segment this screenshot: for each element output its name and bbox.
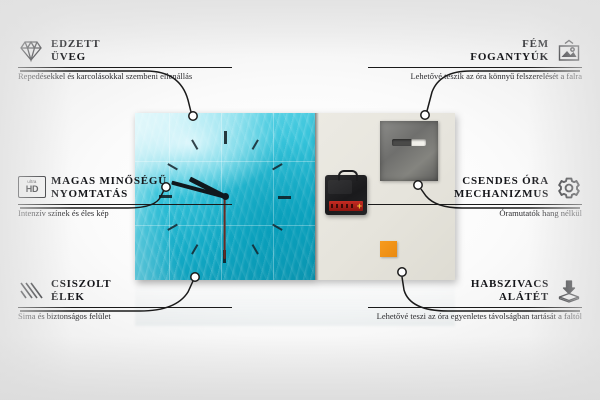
diamond-icon — [18, 39, 44, 63]
callout-title: CSISZOLTÉLEK — [51, 278, 111, 304]
battery: + — [329, 201, 363, 211]
clock-mechanism: + — [325, 175, 367, 215]
callout-description: Repedésekkel és karcolásokkal szembeni e… — [18, 71, 232, 82]
callout-divider — [368, 67, 582, 68]
callout-description: Lehetővé teszik az óra könnyű felszerelé… — [368, 71, 582, 82]
callout-head: ultra HD MAGAS MINŐSÉGŰNYOMTATÁS — [18, 175, 232, 201]
callout-head: EDZETTÜVEG — [18, 38, 232, 64]
callout-magas-minosegu-nyomtatas: ultra HD MAGAS MINŐSÉGŰNYOMTATÁS Intenzí… — [18, 175, 232, 219]
callout-fem-fogantyuk: FÉMFOGANTYÚK Lehetővé teszik az óra könn… — [368, 38, 582, 82]
callout-head: CSENDES ÓRAMECHANIZMUS — [368, 175, 582, 201]
callout-divider — [368, 307, 582, 308]
callout-title: HABSZIVACSALÁTÉT — [471, 278, 549, 304]
gear-icon — [556, 176, 582, 200]
callout-head: HABSZIVACSALÁTÉT — [368, 278, 582, 304]
callout-title: MAGAS MINŐSÉGŰNYOMTATÁS — [51, 175, 167, 201]
callout-head: CSISZOLTÉLEK — [18, 278, 232, 304]
foam-pad-icon — [556, 279, 582, 303]
metal-hanger-plate — [380, 121, 438, 181]
callout-title: EDZETTÜVEG — [51, 38, 100, 64]
callout-divider — [18, 67, 232, 68]
callout-description: Lehetővé teszi az óra egyenletes távolsá… — [368, 311, 582, 322]
ultra-hd-icon: ultra HD — [18, 176, 44, 200]
callout-head: FÉMFOGANTYÚK — [368, 38, 582, 64]
callout-csendes-ora-mechanizmus: CSENDES ÓRAMECHANIZMUS Óramutatók hang n… — [368, 175, 582, 219]
callout-title: FÉMFOGANTYÚK — [470, 38, 549, 64]
callout-csiszolt-elek: CSISZOLTÉLEK Sima és biztonságos felület — [18, 278, 232, 322]
hanger-slot — [392, 139, 426, 146]
polished-edges-icon — [18, 279, 44, 303]
callout-title: CSENDES ÓRAMECHANIZMUS — [454, 175, 549, 201]
callout-description: Óramutatók hang nélkül — [368, 208, 582, 219]
callout-divider — [18, 204, 232, 205]
infographic-canvas: + — [0, 0, 600, 400]
battery-plus-icon: + — [357, 202, 362, 210]
callout-habszivacs-alatet: HABSZIVACSALÁTÉT Lehetővé teszi az óra e… — [368, 278, 582, 322]
callout-description: Intenzív színek és éles kép — [18, 208, 232, 219]
callout-description: Sima és biztonságos felület — [18, 311, 232, 322]
mechanism-housing — [328, 180, 352, 194]
callout-divider — [368, 204, 582, 205]
foam-spacer-pad — [380, 241, 397, 257]
callout-edzett-uveg: EDZETTÜVEG Repedésekkel és karcolásokkal… — [18, 38, 232, 82]
picture-hanger-icon — [556, 39, 582, 63]
callout-divider — [18, 307, 232, 308]
